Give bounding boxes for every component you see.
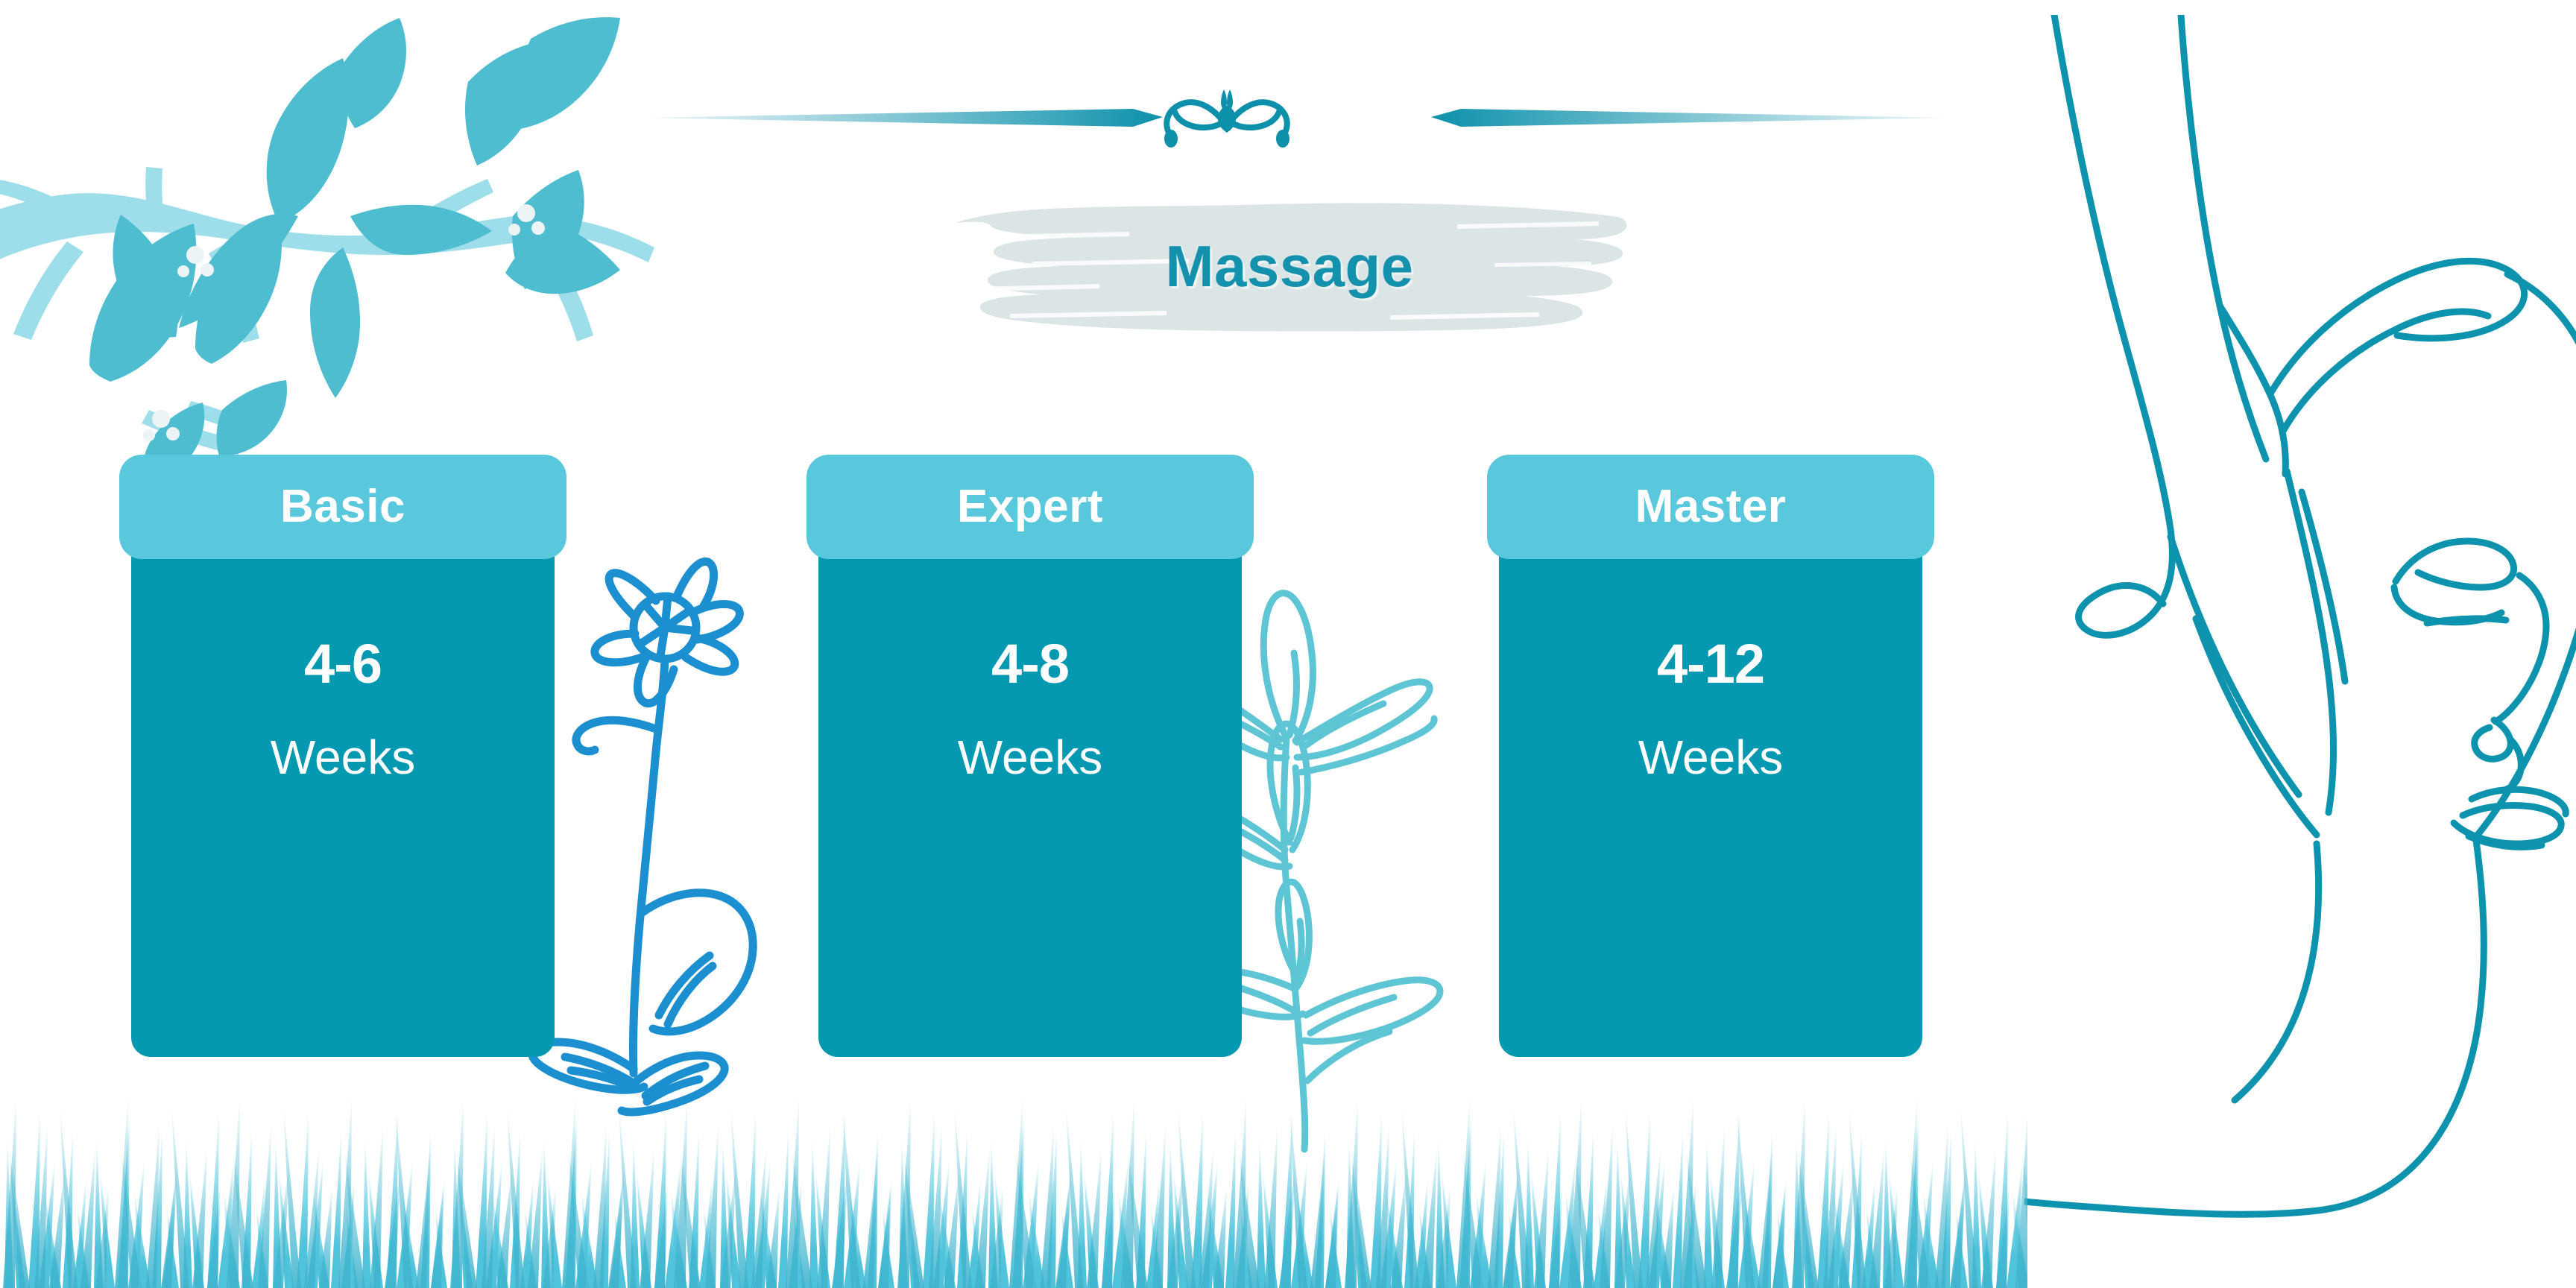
tier-card-body-expert: 4-8 Weeks [818, 526, 1242, 1057]
tier-card-unit-basic: Weeks [271, 733, 415, 781]
ornamental-flourish-divider [641, 82, 1953, 153]
tier-card-duration-basic: 4-6 [304, 637, 382, 692]
tier-card-header-expert: Expert [806, 455, 1254, 559]
tier-card-header-master: Master [1487, 455, 1934, 559]
tier-card-label-expert: Expert [957, 484, 1103, 530]
tier-card-duration-expert: 4-8 [991, 637, 1069, 692]
tier-card-body-master: 4-12 Weeks [1499, 526, 1922, 1057]
tier-card-label-basic: Basic [280, 484, 405, 530]
page-title: Massage [943, 190, 1636, 343]
leafy-branch-icon [0, 0, 663, 470]
tier-card-unit-master: Weeks [1638, 733, 1783, 781]
tier-card-label-master: Master [1635, 484, 1787, 530]
infographic-canvas: Massage [0, 0, 2576, 1288]
tier-card-master[interactable]: Master 4-12 Weeks [1487, 455, 1934, 1057]
tier-card-unit-expert: Weeks [958, 733, 1102, 781]
grass-silhouette-icon [0, 1064, 2027, 1288]
tier-card-duration-master: 4-12 [1657, 637, 1764, 692]
tier-card-body-basic: 4-6 Weeks [131, 526, 555, 1057]
tier-card-header-basic: Basic [119, 455, 566, 559]
tier-card-basic[interactable]: Basic 4-6 Weeks [119, 455, 566, 1057]
line-art-hand-on-face-icon [2024, 15, 2576, 1288]
tier-card-expert[interactable]: Expert 4-8 Weeks [806, 455, 1254, 1057]
title-block: Massage [943, 190, 1636, 343]
